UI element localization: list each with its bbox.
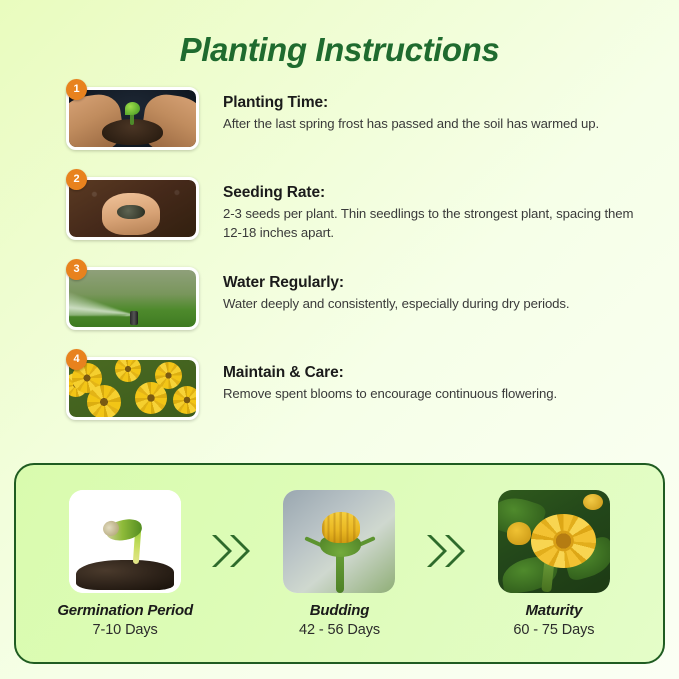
yellow-flowers-field-photo — [69, 360, 196, 417]
timeline-stage: Maturity 60 - 75 Days — [473, 490, 635, 638]
step-thumbnail-wrapper: 3 — [66, 263, 205, 330]
step-number-badge: 2 — [66, 169, 87, 190]
step-number-badge: 1 — [66, 79, 87, 100]
hands-holding-soil-with-sprout-photo — [69, 90, 196, 147]
step-description: 2-3 seeds per plant. Thin seedlings to t… — [223, 205, 643, 242]
sprouting-seedling-photo — [69, 490, 181, 593]
step-number-badge: 4 — [66, 349, 87, 370]
step-description: Remove spent blooms to encourage continu… — [223, 385, 643, 404]
step-description: Water deeply and consistently, especiall… — [223, 295, 643, 314]
timeline-row: Germination Period 7-10 Days Budding 42 — [16, 490, 663, 638]
step-thumbnail — [66, 87, 199, 150]
step-thumbnail — [66, 267, 199, 330]
growth-timeline-panel: Germination Period 7-10 Days Budding 42 — [14, 463, 665, 664]
step-item: 3 Water Regularly: Water deeply and cons… — [66, 263, 661, 353]
step-number-badge: 3 — [66, 259, 87, 280]
step-heading: Maintain & Care: — [223, 363, 661, 382]
timeline-stage-duration: 7-10 Days — [93, 622, 158, 638]
timeline-stage-label: Germination Period — [57, 602, 193, 619]
timeline-stage-duration: 60 - 75 Days — [513, 622, 594, 638]
mature-yellow-flower-photo — [498, 490, 610, 593]
step-item: 2 Seeding Rate: 2-3 seeds per plant. Thi… — [66, 173, 661, 263]
step-thumbnail-wrapper: 4 — [66, 353, 205, 420]
step-thumbnail — [66, 177, 199, 240]
flower-bud-photo — [283, 490, 395, 593]
planting-instructions-infographic: Planting Instructions 1 Planting Time: A… — [0, 0, 679, 679]
hand-holding-seeds-over-soil-photo — [69, 180, 196, 237]
step-item: 4 Maintain & Care: Remove spent blooms t… — [66, 353, 661, 443]
step-text-block: Seeding Rate: 2-3 seeds per plant. Thin … — [205, 173, 661, 243]
step-thumbnail-wrapper: 2 — [66, 173, 205, 240]
double-chevron-right-icon — [206, 531, 258, 571]
step-heading: Seeding Rate: — [223, 183, 661, 202]
page-title: Planting Instructions — [0, 0, 679, 70]
step-description: After the last spring frost has passed a… — [223, 115, 643, 134]
lawn-sprinkler-spraying-water-photo — [69, 270, 196, 327]
timeline-stage-label: Maturity — [525, 602, 582, 619]
timeline-stage-label: Budding — [310, 602, 369, 619]
step-heading: Planting Time: — [223, 93, 661, 112]
step-thumbnail — [66, 357, 199, 420]
step-text-block: Water Regularly: Water deeply and consis… — [205, 263, 661, 314]
double-chevron-right-icon — [421, 531, 473, 571]
step-item: 1 Planting Time: After the last spring f… — [66, 83, 661, 173]
step-text-block: Planting Time: After the last spring fro… — [205, 83, 661, 134]
step-thumbnail-wrapper: 1 — [66, 83, 205, 150]
steps-list: 1 Planting Time: After the last spring f… — [0, 83, 679, 443]
timeline-stage-duration: 42 - 56 Days — [299, 622, 380, 638]
timeline-stage: Budding 42 - 56 Days — [258, 490, 420, 638]
step-heading: Water Regularly: — [223, 273, 661, 292]
timeline-stage: Germination Period 7-10 Days — [44, 490, 206, 638]
step-text-block: Maintain & Care: Remove spent blooms to … — [205, 353, 661, 404]
